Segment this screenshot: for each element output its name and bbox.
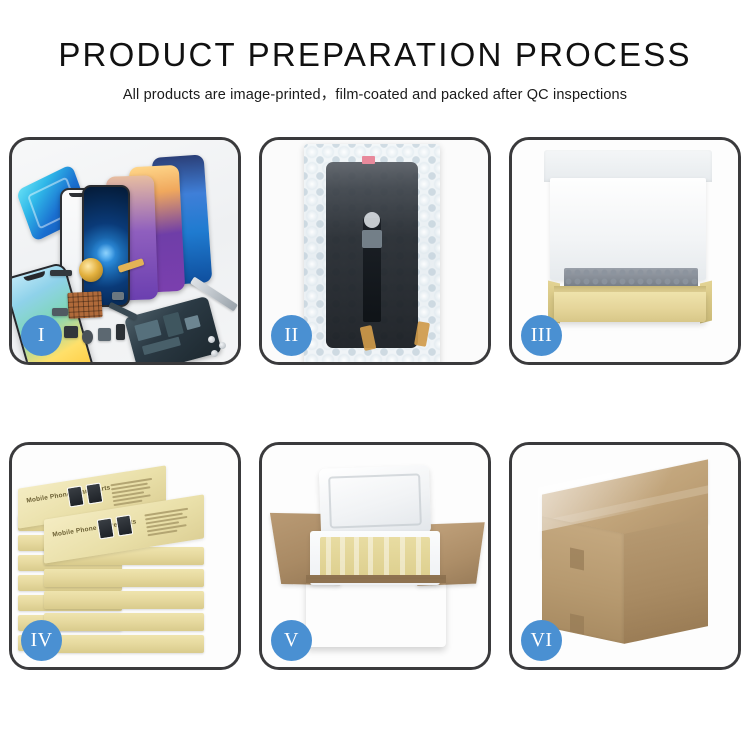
small-part-6 bbox=[112, 292, 124, 300]
step-badge-6: VI bbox=[521, 620, 562, 661]
bubble-wrap-bag bbox=[304, 144, 440, 362]
process-step-panel-5: V bbox=[259, 442, 491, 670]
step-badge-2: II bbox=[271, 315, 312, 356]
process-step-panel-4: Mobile Phone Spare Parts Mobile Phone Sp… bbox=[9, 442, 241, 670]
process-step-panel-3: III bbox=[509, 137, 741, 365]
carton-tape-upper bbox=[570, 548, 584, 571]
carton-right-face bbox=[624, 516, 708, 644]
lcd-driver-chip bbox=[362, 230, 382, 248]
vibration-motor-part bbox=[79, 258, 103, 282]
page-title: PRODUCT PREPARATION PROCESS bbox=[0, 0, 750, 73]
process-step-panel-1: I bbox=[9, 137, 241, 365]
process-step-grid: I II bbox=[9, 137, 741, 670]
step-badge-4: IV bbox=[21, 620, 62, 661]
stack-right-box-2 bbox=[44, 569, 204, 587]
foam-sheet bbox=[550, 178, 706, 280]
lcd-round-component bbox=[364, 212, 380, 228]
carton-tape-lower bbox=[570, 614, 584, 635]
phone-screen-2 bbox=[82, 185, 130, 307]
yellow-boxes-inside bbox=[320, 537, 430, 579]
chip-array-part bbox=[67, 291, 102, 319]
step-badge-3: III bbox=[521, 315, 562, 356]
stack-right-box-4 bbox=[44, 613, 204, 631]
connector-right bbox=[414, 321, 430, 347]
small-part-5 bbox=[52, 308, 68, 316]
small-part-1 bbox=[64, 326, 78, 338]
step-badge-1: I bbox=[21, 315, 62, 356]
small-part-4 bbox=[116, 324, 125, 340]
carton-body bbox=[306, 579, 446, 647]
flex-cable-3 bbox=[50, 270, 72, 276]
qc-sticker bbox=[362, 156, 375, 164]
yellow-box-front bbox=[554, 292, 706, 322]
small-part-3 bbox=[98, 328, 111, 341]
poster-page: PRODUCT PREPARATION PROCESS All products… bbox=[0, 0, 750, 750]
page-header: PRODUCT PREPARATION PROCESS All products… bbox=[0, 0, 750, 104]
small-part-2 bbox=[82, 330, 93, 344]
process-step-panel-2: II bbox=[259, 137, 491, 365]
foam-lid bbox=[319, 465, 431, 537]
stack-right-box-5 bbox=[44, 635, 204, 653]
step-badge-5: V bbox=[271, 620, 312, 661]
process-step-panel-6: VI bbox=[509, 442, 741, 670]
phone-back-housing bbox=[124, 296, 222, 362]
stack-right-box-3 bbox=[44, 591, 204, 609]
page-subtitle: All products are image-printed，film-coat… bbox=[0, 73, 750, 104]
